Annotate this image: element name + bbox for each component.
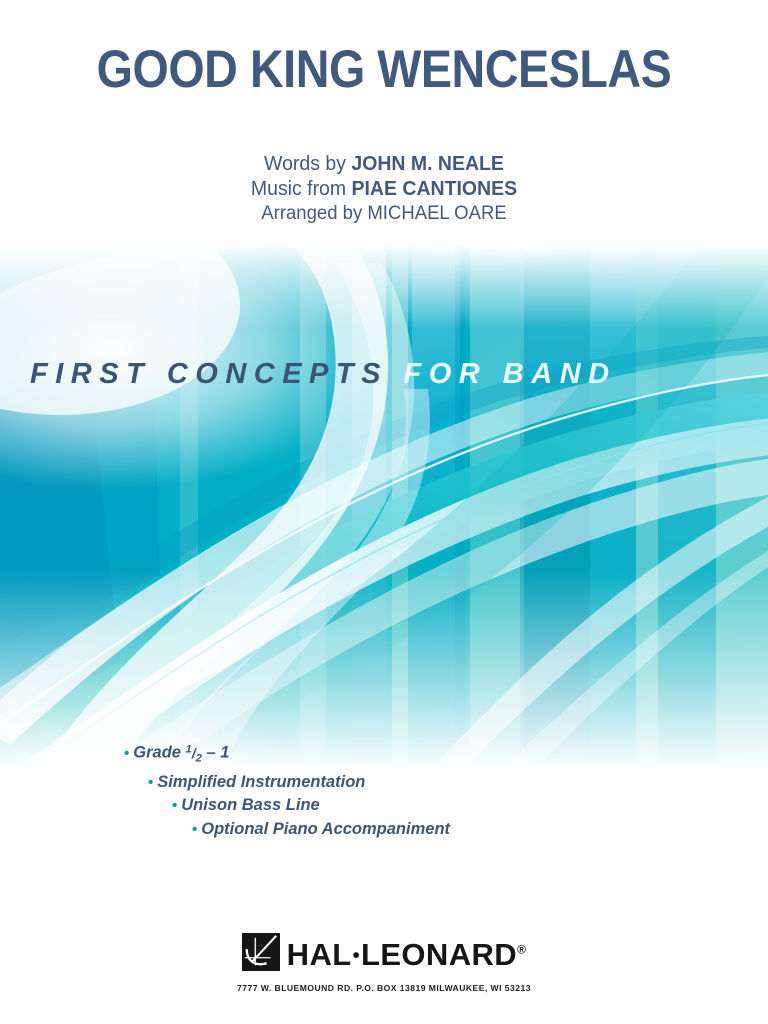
feature-grade-suffix: – 1 (206, 744, 229, 762)
publisher-separator-icon: • (353, 945, 360, 967)
publisher-logo: HAL•LEONARD® (242, 933, 527, 971)
title-block: GOOD KING WENCESLAS (0, 42, 768, 98)
list-item: •Optional Piano Accompaniment (0, 818, 768, 842)
feature-grade-label: Grade (133, 744, 181, 762)
bullet-dot-icon: • (172, 797, 177, 814)
feature-label: Simplified Instrumentation (157, 773, 365, 791)
credit-arranger-name: MICHAEL OARE (367, 202, 506, 224)
bullet-dot-icon: • (192, 821, 197, 838)
feature-list: •Grade 1/2 – 1 •Simplified Instrumentati… (0, 738, 768, 841)
publisher-address: 7777 W. BLUEMOUND RD. P.O. BOX 13819 MIL… (0, 983, 768, 993)
feature-label: Optional Piano Accompaniment (201, 820, 450, 838)
registered-trademark-icon: ® (517, 942, 526, 956)
credits-block: Words by JOHN M. NEALE Music from PIAE C… (0, 152, 768, 226)
credit-words-lead: Words by (264, 152, 351, 175)
cover-page: GOOD KING WENCESLAS Words by JOHN M. NEA… (0, 0, 768, 1024)
bullet-dot-icon: • (124, 745, 129, 762)
cover-artwork (0, 245, 768, 770)
credit-arranger-lead: Arranged by (261, 202, 367, 224)
credit-music-lead: Music from (251, 177, 352, 200)
list-item: •Simplified Instrumentation (0, 771, 768, 795)
publisher-block: HAL•LEONARD® 7777 W. BLUEMOUND RD. P.O. … (0, 933, 768, 993)
publisher-name-part2: LEONARD (361, 937, 517, 972)
feature-label: Unison Bass Line (181, 796, 319, 814)
publisher-name-part1: HAL (287, 937, 352, 972)
grade-numerator: 1 (186, 743, 192, 755)
list-item: •Unison Bass Line (0, 794, 768, 818)
credit-words-name: JOHN M. NEALE (351, 152, 504, 175)
hal-leonard-mark-icon (242, 933, 280, 971)
page-title: GOOD KING WENCESLAS (46, 42, 722, 98)
abstract-ribbon-graphic-icon (0, 245, 768, 770)
credit-music: Music from PIAE CANTIONES (19, 177, 749, 202)
credit-arranger: Arranged by MICHAEL OARE (19, 201, 749, 226)
credit-words: Words by JOHN M. NEALE (19, 152, 749, 177)
publisher-wordmark: HAL•LEONARD® (287, 939, 527, 970)
feature-grade-fraction: 1/2 (186, 746, 202, 761)
list-item: •Grade 1/2 – 1 (0, 738, 768, 771)
bullet-dot-icon: • (148, 774, 153, 791)
credit-music-name: PIAE CANTIONES (352, 177, 518, 200)
